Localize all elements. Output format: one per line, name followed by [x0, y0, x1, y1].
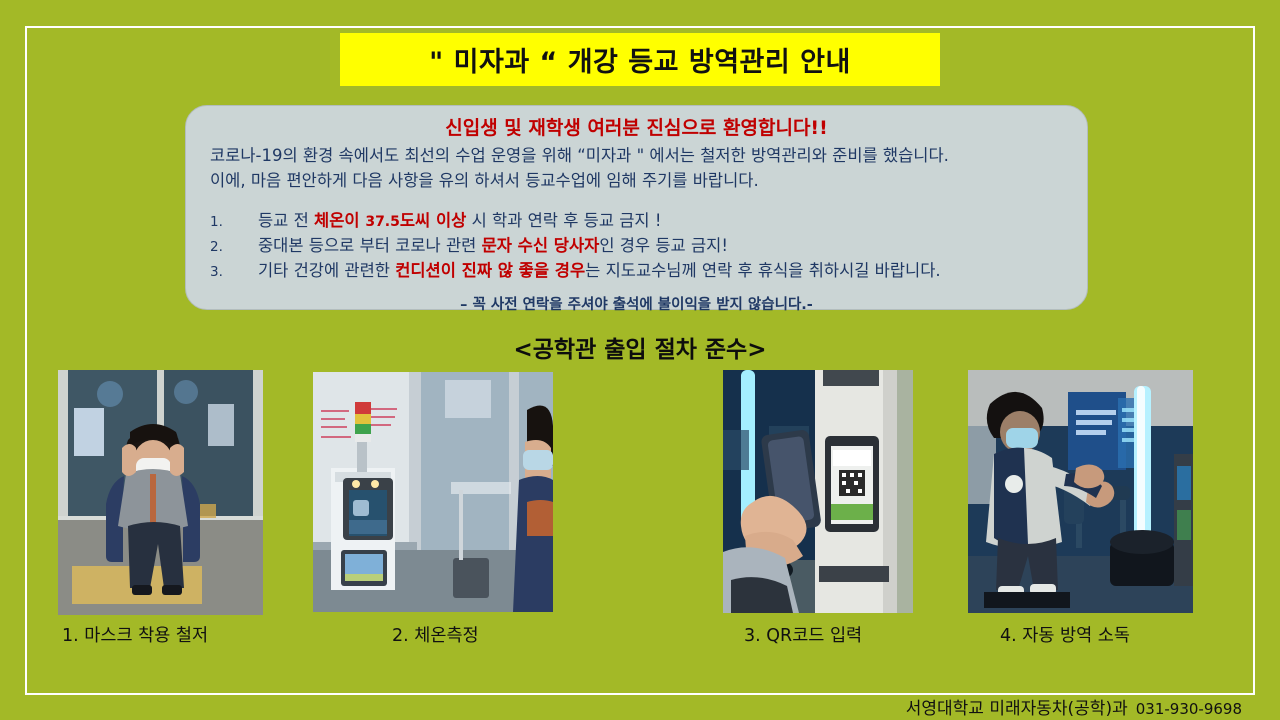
rule-2-highlight: 문자 수신 당사자 [482, 236, 600, 255]
section-heading: <공학관 출입 절차 준수> [0, 330, 1280, 364]
photo-temperature-kiosk-image [313, 372, 553, 612]
footer-organization: 서영대학교 미래자동차(공학)과 [906, 699, 1128, 719]
notice-box: 신입생 및 재학생 여러분 진심으로 환영합니다!! 코로나-19의 환경 속에… [185, 105, 1088, 310]
rule-3-post: 는 지도교수님께 연락 후 휴식을 취하시길 바랍니다. [585, 261, 941, 280]
notice-headline: 신입생 및 재학생 여러분 진심으로 환영합니다!! [200, 114, 1073, 142]
list-item-text: 기타 건강에 관련한 컨디션이 진짜 않 좋을 경우는 지도교수님께 연락 후 … [258, 259, 1073, 283]
rule-1-highlight-tail: 도씨 이상 [400, 211, 466, 230]
photo-temperature-kiosk [313, 372, 553, 612]
photo-qr-code-scan [723, 370, 913, 613]
photo-caption-4: 4. 자동 방역 소독 [1000, 622, 1130, 647]
list-item: 1. 등교 전 체온이 37.5도씨 이상 시 학과 연락 후 등교 금지 ! [210, 209, 1073, 234]
page-title: " 미자과 “ 개강 등교 방역관리 안내 [429, 40, 851, 79]
rule-2-pre: 중대본 등으로 부터 코로나 관련 [258, 236, 482, 255]
notice-paragraph-line-1: 코로나-19의 환경 속에서도 최선의 수업 운영을 위해 “미자과 " 에서는… [200, 143, 1073, 168]
list-item: 2. 중대본 등으로 부터 코로나 관련 문자 수신 당사자인 경우 등교 금지… [210, 234, 1073, 259]
rule-1-pre: 등교 전 [258, 211, 314, 230]
footer-phone: 031-930-9698 [1136, 700, 1242, 718]
rule-3-pre: 기타 건강에 관련한 [258, 261, 395, 280]
photo-qr-code-scan-image [723, 370, 913, 613]
list-item-number: 3. [210, 260, 258, 284]
notice-footnote: – 꼭 사전 연락을 주셔야 출석에 불이익을 받지 않습니다.- [200, 293, 1073, 314]
photo-caption-1: 1. 마스크 착용 철저 [62, 622, 208, 647]
list-item-text: 중대본 등으로 부터 코로나 관련 문자 수신 당사자인 경우 등교 금지! [258, 234, 1073, 258]
poster-title-band: " 미자과 “ 개강 등교 방역관리 안내 [340, 33, 940, 86]
footer: 서영대학교 미래자동차(공학)과031-930-9698 [906, 694, 1242, 719]
rule-1-highlight-number: 37.5 [365, 214, 400, 230]
rule-1-post: 시 학과 연락 후 등교 금지 ! [466, 211, 661, 230]
list-item-text: 등교 전 체온이 37.5도씨 이상 시 학과 연락 후 등교 금지 ! [258, 209, 1073, 234]
rule-1-highlight: 체온이 [314, 211, 365, 230]
notice-paragraph-line-2: 이에, 마음 편안하게 다음 사항을 유의 하셔서 등교수업에 임해 주기를 바… [200, 168, 1073, 193]
photo-mask-wearing [58, 370, 263, 615]
photo-auto-disinfection-image [968, 370, 1193, 613]
photo-caption-2: 2. 체온측정 [392, 622, 479, 647]
notice-rules-list: 1. 등교 전 체온이 37.5도씨 이상 시 학과 연락 후 등교 금지 ! … [200, 209, 1073, 284]
rule-3-highlight: 컨디션이 진짜 않 좋을 경우 [395, 261, 585, 280]
photo-strip [0, 370, 1280, 615]
list-item-number: 2. [210, 235, 258, 259]
list-item: 3. 기타 건강에 관련한 컨디션이 진짜 않 좋을 경우는 지도교수님께 연락… [210, 259, 1073, 284]
photo-caption-3: 3. QR코드 입력 [744, 622, 862, 647]
photo-mask-wearing-image [58, 370, 263, 615]
photo-auto-disinfection [968, 370, 1193, 613]
list-item-number: 1. [210, 210, 258, 234]
rule-2-post: 인 경우 등교 금지! [599, 236, 728, 255]
